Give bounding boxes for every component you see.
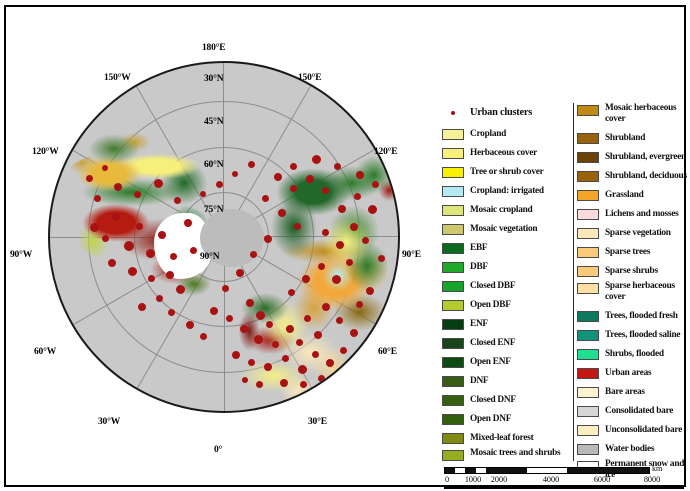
- scale-bar-unit: km: [652, 464, 662, 473]
- legend-item-unconsolidated-bare: Unconsolidated bare: [577, 421, 689, 439]
- map-label-lon-30E: 30°E: [308, 417, 327, 427]
- scale-bar: km 0 1000 2000 4000 6000 8000: [444, 465, 684, 491]
- legend-swatch: [577, 311, 599, 322]
- legend-swatch: [442, 395, 464, 406]
- legend-item-tree-or-shrub-cover: Tree or shrub cover: [442, 163, 572, 181]
- legend-swatch: [577, 330, 599, 341]
- legend-swatch: [442, 262, 464, 273]
- legend-label: Shrubland: [605, 133, 645, 144]
- map-label-lon-0: 0°: [214, 445, 222, 455]
- legend-label: DNF: [470, 376, 488, 387]
- map-label-lat-75N: 75°N: [204, 205, 223, 215]
- legend-swatch: [577, 266, 599, 277]
- legend-swatch: [577, 228, 599, 239]
- legend-item-open-dbf: Open DBF: [442, 296, 572, 314]
- legend-label: Consolidated bare: [605, 406, 673, 417]
- legend-item-shrubland-evergreen: Shrubland, evergreen: [577, 148, 689, 166]
- map-label-lat-45N: 45°N: [204, 117, 223, 127]
- legend-label: Closed ENF: [470, 338, 515, 349]
- legend-label: Closed DNF: [470, 395, 516, 406]
- map-label-lon-90E: 90°E: [402, 250, 421, 260]
- legend-swatch: [577, 171, 599, 182]
- legend-label: Cropland: [470, 129, 506, 140]
- scale-tick: 6000: [594, 475, 610, 484]
- legend-label: Sparse shrubs: [605, 266, 658, 277]
- legend-item-mixed-leaf-forest: Mixed-leaf forest: [442, 429, 572, 447]
- map-label-lon-60E: 60°E: [378, 347, 397, 357]
- scale-seg: [486, 468, 527, 473]
- legend-label: Shrubs, flooded: [605, 349, 664, 360]
- legend-item-closed-dbf: Closed DBF: [442, 277, 572, 295]
- figure-frame: 180°E 150°W 150°E 120°W 120°E 90°W 90°E …: [4, 5, 686, 487]
- legend-label: Mosaic herbaceous cover: [605, 103, 689, 124]
- scale-tick: 0: [445, 475, 449, 484]
- legend-label: Open DNF: [470, 414, 511, 425]
- legend-divider: [573, 103, 574, 461]
- legend-swatch: [442, 376, 464, 387]
- scale-tick: 1000: [465, 475, 481, 484]
- legend-swatch: [442, 186, 464, 197]
- legend-item-grassland: Grassland: [577, 186, 689, 204]
- legend-swatch: [577, 283, 599, 294]
- legend-label: Sparse trees: [605, 247, 650, 258]
- legend-label: Trees, flooded fresh: [605, 311, 678, 322]
- map-label-lat-30N: 30°N: [204, 74, 223, 84]
- legend-label: Open DBF: [470, 300, 511, 311]
- map-label-lon-120E: 120°E: [374, 147, 397, 157]
- legend-item-cropland: Cropland: [442, 125, 572, 143]
- legend-swatch: [577, 406, 599, 417]
- legend: Urban clusters Cropland Herbaceous cover…: [438, 103, 690, 465]
- legend-item-sparse-shrubs: Sparse shrubs: [577, 262, 689, 280]
- legend-swatch: [442, 300, 464, 311]
- legend-swatch: [577, 368, 599, 379]
- legend-label: Sparse herbaceous cover: [605, 281, 689, 302]
- map-label-lat-90N: 90°N: [200, 252, 219, 262]
- legend-item-closed-enf: Closed ENF: [442, 334, 572, 352]
- legend-swatch: [442, 357, 464, 368]
- legend-item-open-dnf: Open DNF: [442, 410, 572, 428]
- legend-swatch: [442, 224, 464, 235]
- legend-item-bare-areas: Bare areas: [577, 383, 689, 401]
- map-label-lon-60W: 60°W: [34, 347, 56, 357]
- scale-tick: 8000: [644, 475, 660, 484]
- map-disc: [48, 61, 400, 413]
- legend-swatch: [577, 105, 599, 116]
- legend-item-urban-areas: Urban areas: [577, 364, 689, 382]
- legend-item-mosaic-cropland: Mosaic cropland: [442, 201, 572, 219]
- legend-item-open-enf: Open ENF: [442, 353, 572, 371]
- legend-swatch: [577, 349, 599, 360]
- legend-label: Unconsolidated bare: [605, 425, 682, 436]
- legend-item-dbf: DBF: [442, 258, 572, 276]
- legend-swatch: [577, 209, 599, 220]
- legend-swatch: [442, 129, 464, 140]
- scale-seg: [445, 468, 455, 473]
- legend-label: Shrubland, evergreen: [605, 152, 686, 163]
- legend-label: Mosaic cropland: [470, 205, 532, 216]
- legend-label: Mixed-leaf forest: [470, 433, 533, 444]
- legend-column-1: Urban clusters Cropland Herbaceous cover…: [442, 103, 572, 474]
- scale-bar-rule: [444, 487, 684, 489]
- legend-swatch: [442, 167, 464, 178]
- legend-item-shrubland: Shrubland: [577, 129, 689, 147]
- legend-label: Cropland: irrigated: [470, 186, 544, 197]
- legend-swatch: [577, 190, 599, 201]
- legend-swatch: [442, 414, 464, 425]
- legend-swatch: [442, 338, 464, 349]
- map-label-lon-120W: 120°W: [32, 147, 59, 157]
- legend-swatch: [442, 450, 464, 461]
- legend-item-ebf: EBF: [442, 239, 572, 257]
- legend-label: EBF: [470, 243, 487, 254]
- map-label-lon-30W: 30°W: [98, 417, 120, 427]
- legend-label: Shrubland, deciduous: [605, 171, 687, 182]
- legend-label: Open ENF: [470, 357, 511, 368]
- scale-tick: 4000: [543, 475, 559, 484]
- scale-seg: [527, 468, 568, 473]
- legend-item-dnf: DNF: [442, 372, 572, 390]
- legend-item-sparse-herbaceous-cover: Sparse herbaceous cover: [577, 281, 689, 306]
- legend-swatch: [577, 152, 599, 163]
- legend-swatch: [577, 425, 599, 436]
- legend-label: Urban clusters: [470, 108, 532, 119]
- legend-item-shrubland-deciduous: Shrubland, deciduous: [577, 167, 689, 185]
- figure-page: 180°E 150°W 150°E 120°W 120°E 90°W 90°E …: [0, 0, 690, 491]
- legend-item-sparse-trees: Sparse trees: [577, 243, 689, 261]
- scale-seg: [567, 468, 608, 473]
- legend-label: Water bodies: [605, 444, 654, 455]
- legend-swatch: [442, 243, 464, 254]
- legend-label: Herbaceous cover: [470, 148, 537, 159]
- legend-label: DBF: [470, 262, 488, 273]
- legend-item-consolidated-bare: Consolidated bare: [577, 402, 689, 420]
- map-label-lon-150E: 150°E: [298, 73, 321, 83]
- legend-swatch: [442, 319, 464, 330]
- legend-item-enf: ENF: [442, 315, 572, 333]
- legend-item-water-bodies: Water bodies: [577, 440, 689, 458]
- legend-swatch: [442, 148, 464, 159]
- legend-swatch: [577, 387, 599, 398]
- legend-item-urban-clusters: Urban clusters: [442, 103, 572, 123]
- urban-cluster-dots: [50, 63, 398, 411]
- legend-label: Grassland: [605, 190, 644, 201]
- legend-swatch: [442, 281, 464, 292]
- map-label-lon-150W: 150°W: [104, 73, 131, 83]
- map-label-lon-90W: 90°W: [10, 250, 32, 260]
- legend-swatch: [577, 444, 599, 455]
- scale-seg: [465, 468, 475, 473]
- legend-swatch: [577, 247, 599, 258]
- legend-label: ENF: [470, 319, 488, 330]
- legend-swatch: [577, 133, 599, 144]
- legend-item-mosaic-herbaceous-cover: Mosaic herbaceous cover: [577, 103, 689, 128]
- legend-label: Urban areas: [605, 368, 651, 379]
- legend-item-lichens-and-mosses: Lichens and mosses: [577, 205, 689, 223]
- legend-label: Trees, flooded saline: [605, 330, 680, 341]
- scale-seg: [476, 468, 486, 473]
- legend-label: Lichens and mosses: [605, 209, 679, 220]
- legend-swatch: [442, 205, 464, 216]
- map-label-lat-60N: 60°N: [204, 160, 223, 170]
- legend-label: Tree or shrub cover: [470, 167, 543, 178]
- scale-tick: 2000: [491, 475, 507, 484]
- legend-swatch: [442, 433, 464, 444]
- legend-label: Bare areas: [605, 387, 645, 398]
- legend-item-herbaceous-cover: Herbaceous cover: [442, 144, 572, 162]
- legend-item-cropland-irrigated: Cropland: irrigated: [442, 182, 572, 200]
- map-label-lon-180E: 180°E: [202, 43, 225, 53]
- legend-item-shrubs-flooded: Shrubs, flooded: [577, 345, 689, 363]
- legend-item-closed-dnf: Closed DNF: [442, 391, 572, 409]
- legend-label: Closed DBF: [470, 281, 515, 292]
- legend-label: Mosaic trees and shrubs: [470, 448, 560, 459]
- legend-item-trees-flooded-fresh: Trees, flooded fresh: [577, 307, 689, 325]
- scale-seg: [455, 468, 465, 473]
- legend-item-mosaic-vegetation: Mosaic vegetation: [442, 220, 572, 238]
- legend-label: Sparse vegetation: [605, 228, 671, 239]
- scale-bar-ticks: 0 1000 2000 4000 6000 8000: [444, 475, 674, 487]
- legend-label: Mosaic vegetation: [470, 224, 537, 235]
- legend-column-2: Mosaic herbaceous cover Shrubland Shrubl…: [577, 103, 689, 485]
- scale-seg: [608, 468, 649, 473]
- polar-map: 180°E 150°W 150°E 120°W 120°E 90°W 90°E …: [6, 17, 438, 467]
- legend-item-sparse-vegetation: Sparse vegetation: [577, 224, 689, 242]
- urban-cluster-dot-icon: [442, 111, 464, 116]
- scale-bar-track: [444, 467, 650, 474]
- legend-item-trees-flooded-saline: Trees, flooded saline: [577, 326, 689, 344]
